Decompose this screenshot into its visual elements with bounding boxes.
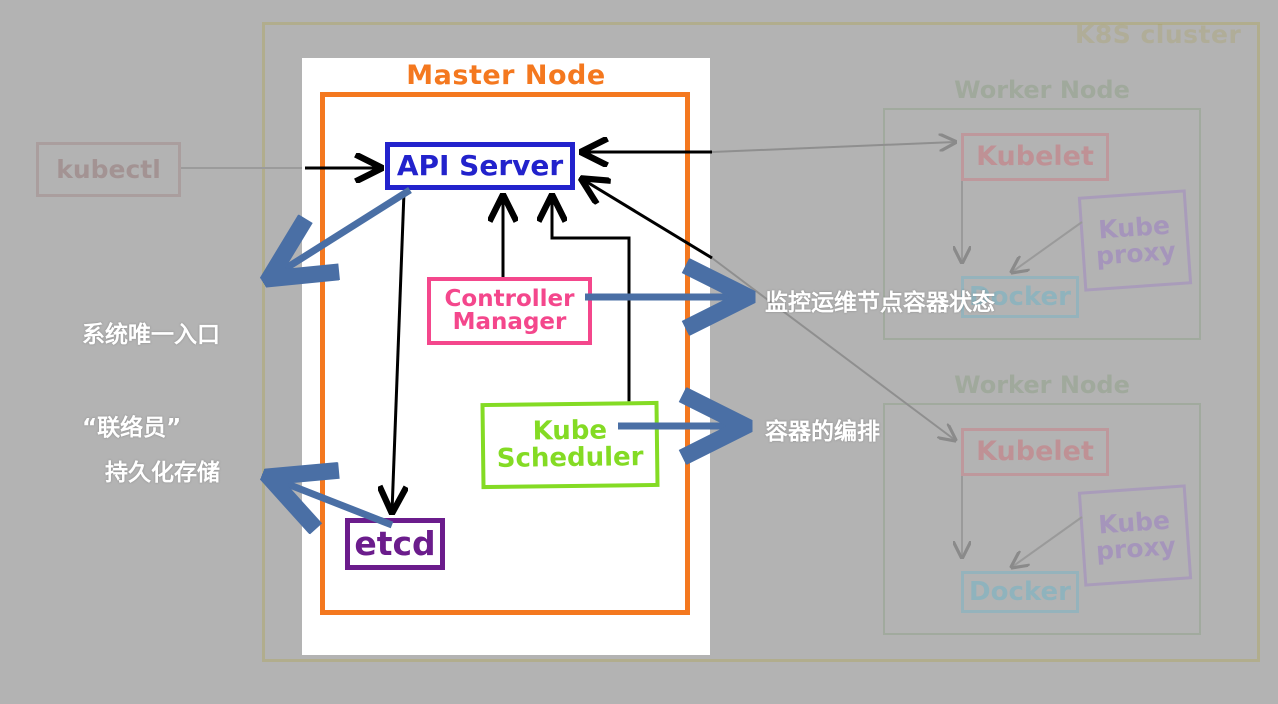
callout-entry-line2: “联络员” (82, 413, 220, 444)
worker-2-docker-label: Docker (969, 579, 1071, 606)
worker-1-kube-proxy-line2: proxy (1095, 238, 1176, 269)
worker-node-2: Worker Node Kubelet Kube proxy Docker (883, 403, 1201, 635)
kube-scheduler-line1: Kube (532, 418, 607, 445)
worker-1-kubelet-label: Kubelet (976, 143, 1094, 171)
callout-storage: 持久化存储 (105, 458, 220, 489)
callout-entry-line1: 系统唯一入口 (82, 320, 220, 351)
kubectl-label: kubectl (56, 155, 161, 184)
worker-node-1-title: Worker Node (883, 76, 1201, 104)
worker-2-kubelet-label: Kubelet (976, 438, 1094, 466)
worker-2-kube-proxy-line2: proxy (1095, 533, 1176, 564)
api-server-box: API Server (385, 142, 575, 190)
diagram-canvas: K8S cluster Worker Node Kubelet Kube pro… (0, 0, 1278, 704)
controller-manager-line2: Manager (453, 311, 567, 334)
worker-node-2-title: Worker Node (883, 371, 1201, 399)
worker-2-docker: Docker (961, 571, 1079, 613)
callout-monitor: 监控运维节点容器状态 (765, 288, 995, 319)
kube-scheduler-line2: Scheduler (497, 444, 644, 472)
callout-orchestration: 容器的编排 (765, 417, 880, 448)
worker-1-kube-proxy: Kube proxy (1078, 189, 1192, 291)
master-node-title: Master Node (302, 60, 710, 91)
controller-manager-line1: Controller (445, 288, 575, 311)
etcd-box: etcd (345, 518, 445, 570)
etcd-label: etcd (354, 527, 435, 561)
kubectl-box: kubectl (36, 142, 181, 197)
api-server-label: API Server (397, 152, 563, 181)
worker-2-kubelet: Kubelet (961, 428, 1109, 476)
worker-2-kube-proxy: Kube proxy (1078, 484, 1192, 586)
controller-manager-box: Controller Manager (427, 277, 592, 345)
worker-1-kubelet: Kubelet (961, 133, 1109, 181)
kube-scheduler-box: Kube Scheduler (480, 401, 659, 489)
k8s-cluster-label: K8S cluster (1075, 20, 1241, 49)
